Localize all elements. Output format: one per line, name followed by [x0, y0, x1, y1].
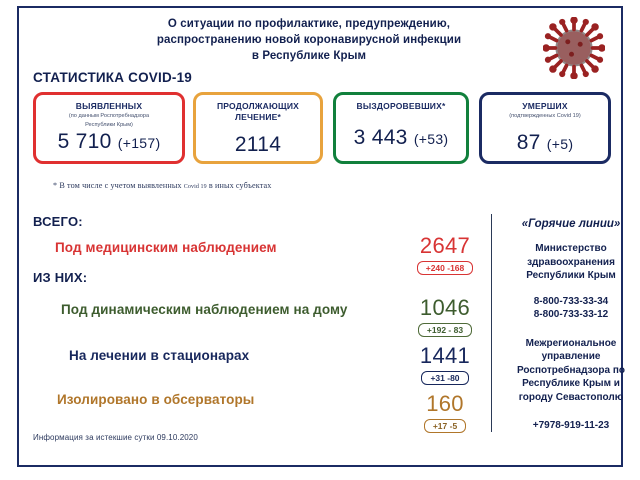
- value-hospital-treatment: 1441 +31 -80: [401, 344, 489, 386]
- hotline-org-rospotrebnadzor: Межрегиональное управление Роспотребнадз…: [501, 337, 640, 405]
- stat-box-detected-value: 5 710: [58, 130, 112, 153]
- value-home-observation-number: 1046: [401, 296, 489, 320]
- value-medical-observation-delta: +240 -168: [417, 261, 474, 275]
- label-home-observation: Под динамическим наблюдением на дому: [61, 302, 348, 317]
- value-isolated-observatory-number: 160: [401, 392, 489, 416]
- label-total: ВСЕГО:: [33, 214, 83, 229]
- value-home-observation-delta: +192 - 83: [418, 323, 472, 337]
- footnote-text-before: * В том числе с учетом выявленных: [53, 181, 184, 190]
- stat-box-detected-sub-2: Республики Крым): [36, 122, 182, 130]
- footnote-text-after: в иных субъектах: [207, 181, 272, 190]
- value-medical-observation-number: 2647: [401, 234, 489, 258]
- summary-boxes: ВЫЯВЛЕННЫХ (по данным Роспотребнадзора Р…: [33, 92, 611, 168]
- hotline-org-rpn-line-1: Межрегиональное: [501, 337, 640, 351]
- stat-box-detected: ВЫЯВЛЕННЫХ (по данным Роспотребнадзора Р…: [33, 92, 185, 164]
- stat-box-recovered: ВЫЗДОРОВЕВШИХ* 3 443 (+53): [333, 92, 469, 164]
- value-home-observation: 1046 +192 - 83: [401, 296, 489, 338]
- stat-box-treatment-caption-1: ПРОДОЛЖАЮЩИХ: [196, 101, 320, 112]
- hotline-panel: «Горячие линии» Министерство здравоохран…: [501, 218, 640, 431]
- stat-box-recovered-caption: ВЫЗДОРОВЕВШИХ*: [336, 101, 466, 112]
- footnote-tiny: Covid 19: [184, 184, 207, 190]
- stat-box-died-value-row: 87 (+5): [482, 131, 608, 155]
- info-footer: Информация за истекшие сутки 09.10.2020: [33, 433, 198, 442]
- stat-box-treatment: ПРОДОЛЖАЮЩИХ ЛЕЧЕНИЕ* 2114: [193, 92, 323, 164]
- stat-box-detected-value-row: 5 710 (+157): [36, 130, 182, 154]
- page-title-line-1: О ситуации по профилактике, предупрежден…: [79, 16, 539, 32]
- hotline-health-phones: 8-800-733-33-34 8-800-733-33-12: [501, 295, 640, 321]
- hotline-phone-2[interactable]: 8-800-733-33-12: [501, 308, 640, 321]
- vertical-divider: [491, 214, 492, 432]
- stat-box-recovered-value-row: 3 443 (+53): [336, 126, 466, 150]
- page-title: О ситуации по профилактике, предупрежден…: [79, 16, 539, 64]
- hotline-org-rpn-line-3: Роспотребнадзора по: [501, 364, 640, 378]
- label-medical-observation: Под медицинским наблюдением: [55, 240, 277, 255]
- coronavirus-icon: [543, 17, 605, 79]
- stat-box-died-caption: УМЕРШИХ: [482, 101, 608, 112]
- hotline-phone-3[interactable]: +7978-919-11-23: [501, 420, 640, 431]
- value-hospital-treatment-number: 1441: [401, 344, 489, 368]
- stat-box-recovered-value: 3 443: [354, 126, 408, 149]
- hotline-org-health: Министерство здравоохранения Республики …: [501, 242, 640, 283]
- stat-box-detected-delta: (+157): [118, 135, 161, 151]
- hotline-org-health-line-2: здравоохранения: [501, 256, 640, 270]
- stat-box-died: УМЕРШИХ (подтвержденных Covid 19) 87 (+5…: [479, 92, 611, 164]
- label-of-them: ИЗ НИХ:: [33, 270, 87, 285]
- value-hospital-treatment-delta: +31 -80: [421, 371, 468, 385]
- stat-box-treatment-caption-2: ЛЕЧЕНИЕ*: [196, 112, 320, 123]
- slide-canvas: О ситуации по профилактике, предупрежден…: [0, 0, 640, 480]
- stat-box-died-delta: (+5): [547, 136, 574, 152]
- value-isolated-observatory-delta: +17 -5: [424, 419, 466, 433]
- stat-box-died-value: 87: [517, 131, 541, 154]
- slide-frame: О ситуации по профилактике, предупрежден…: [17, 6, 623, 467]
- hotline-org-rpn-line-2: управление: [501, 350, 640, 364]
- footnote: * В том числе с учетом выявленных Covid …: [53, 181, 271, 190]
- page-title-line-2: распространению новой коронавирусной инф…: [79, 32, 539, 48]
- stat-box-detected-caption: ВЫЯВЛЕННЫХ: [36, 101, 182, 112]
- hotline-org-rpn-line-5: городу Севастополю: [501, 391, 640, 405]
- hotline-phone-1[interactable]: 8-800-733-33-34: [501, 295, 640, 308]
- value-isolated-observatory: 160 +17 -5: [401, 392, 489, 434]
- statistics-heading: СТАТИСТИКА COVID-19: [33, 70, 192, 85]
- label-hospital-treatment: На лечении в стационарах: [69, 348, 249, 363]
- hotline-org-rpn-line-4: Республике Крым и: [501, 377, 640, 391]
- page-title-line-3: в Республике Крым: [79, 48, 539, 64]
- value-medical-observation: 2647 +240 -168: [401, 234, 489, 276]
- stat-box-detected-sub-1: (по данным Роспотребнадзора: [36, 113, 182, 121]
- hotline-org-health-line-3: Республики Крым: [501, 269, 640, 283]
- header: О ситуации по профилактике, предупрежден…: [19, 8, 621, 66]
- stat-box-died-sub-1: (подтвержденных Covid 19): [482, 113, 608, 121]
- label-isolated-observatory: Изолировано в обсерваторы: [57, 392, 254, 407]
- stat-box-recovered-delta: (+53): [414, 131, 449, 147]
- stat-box-treatment-value: 2114: [196, 133, 320, 157]
- hotline-org-health-line-1: Министерство: [501, 242, 640, 256]
- hotline-title: «Горячие линии»: [501, 218, 640, 230]
